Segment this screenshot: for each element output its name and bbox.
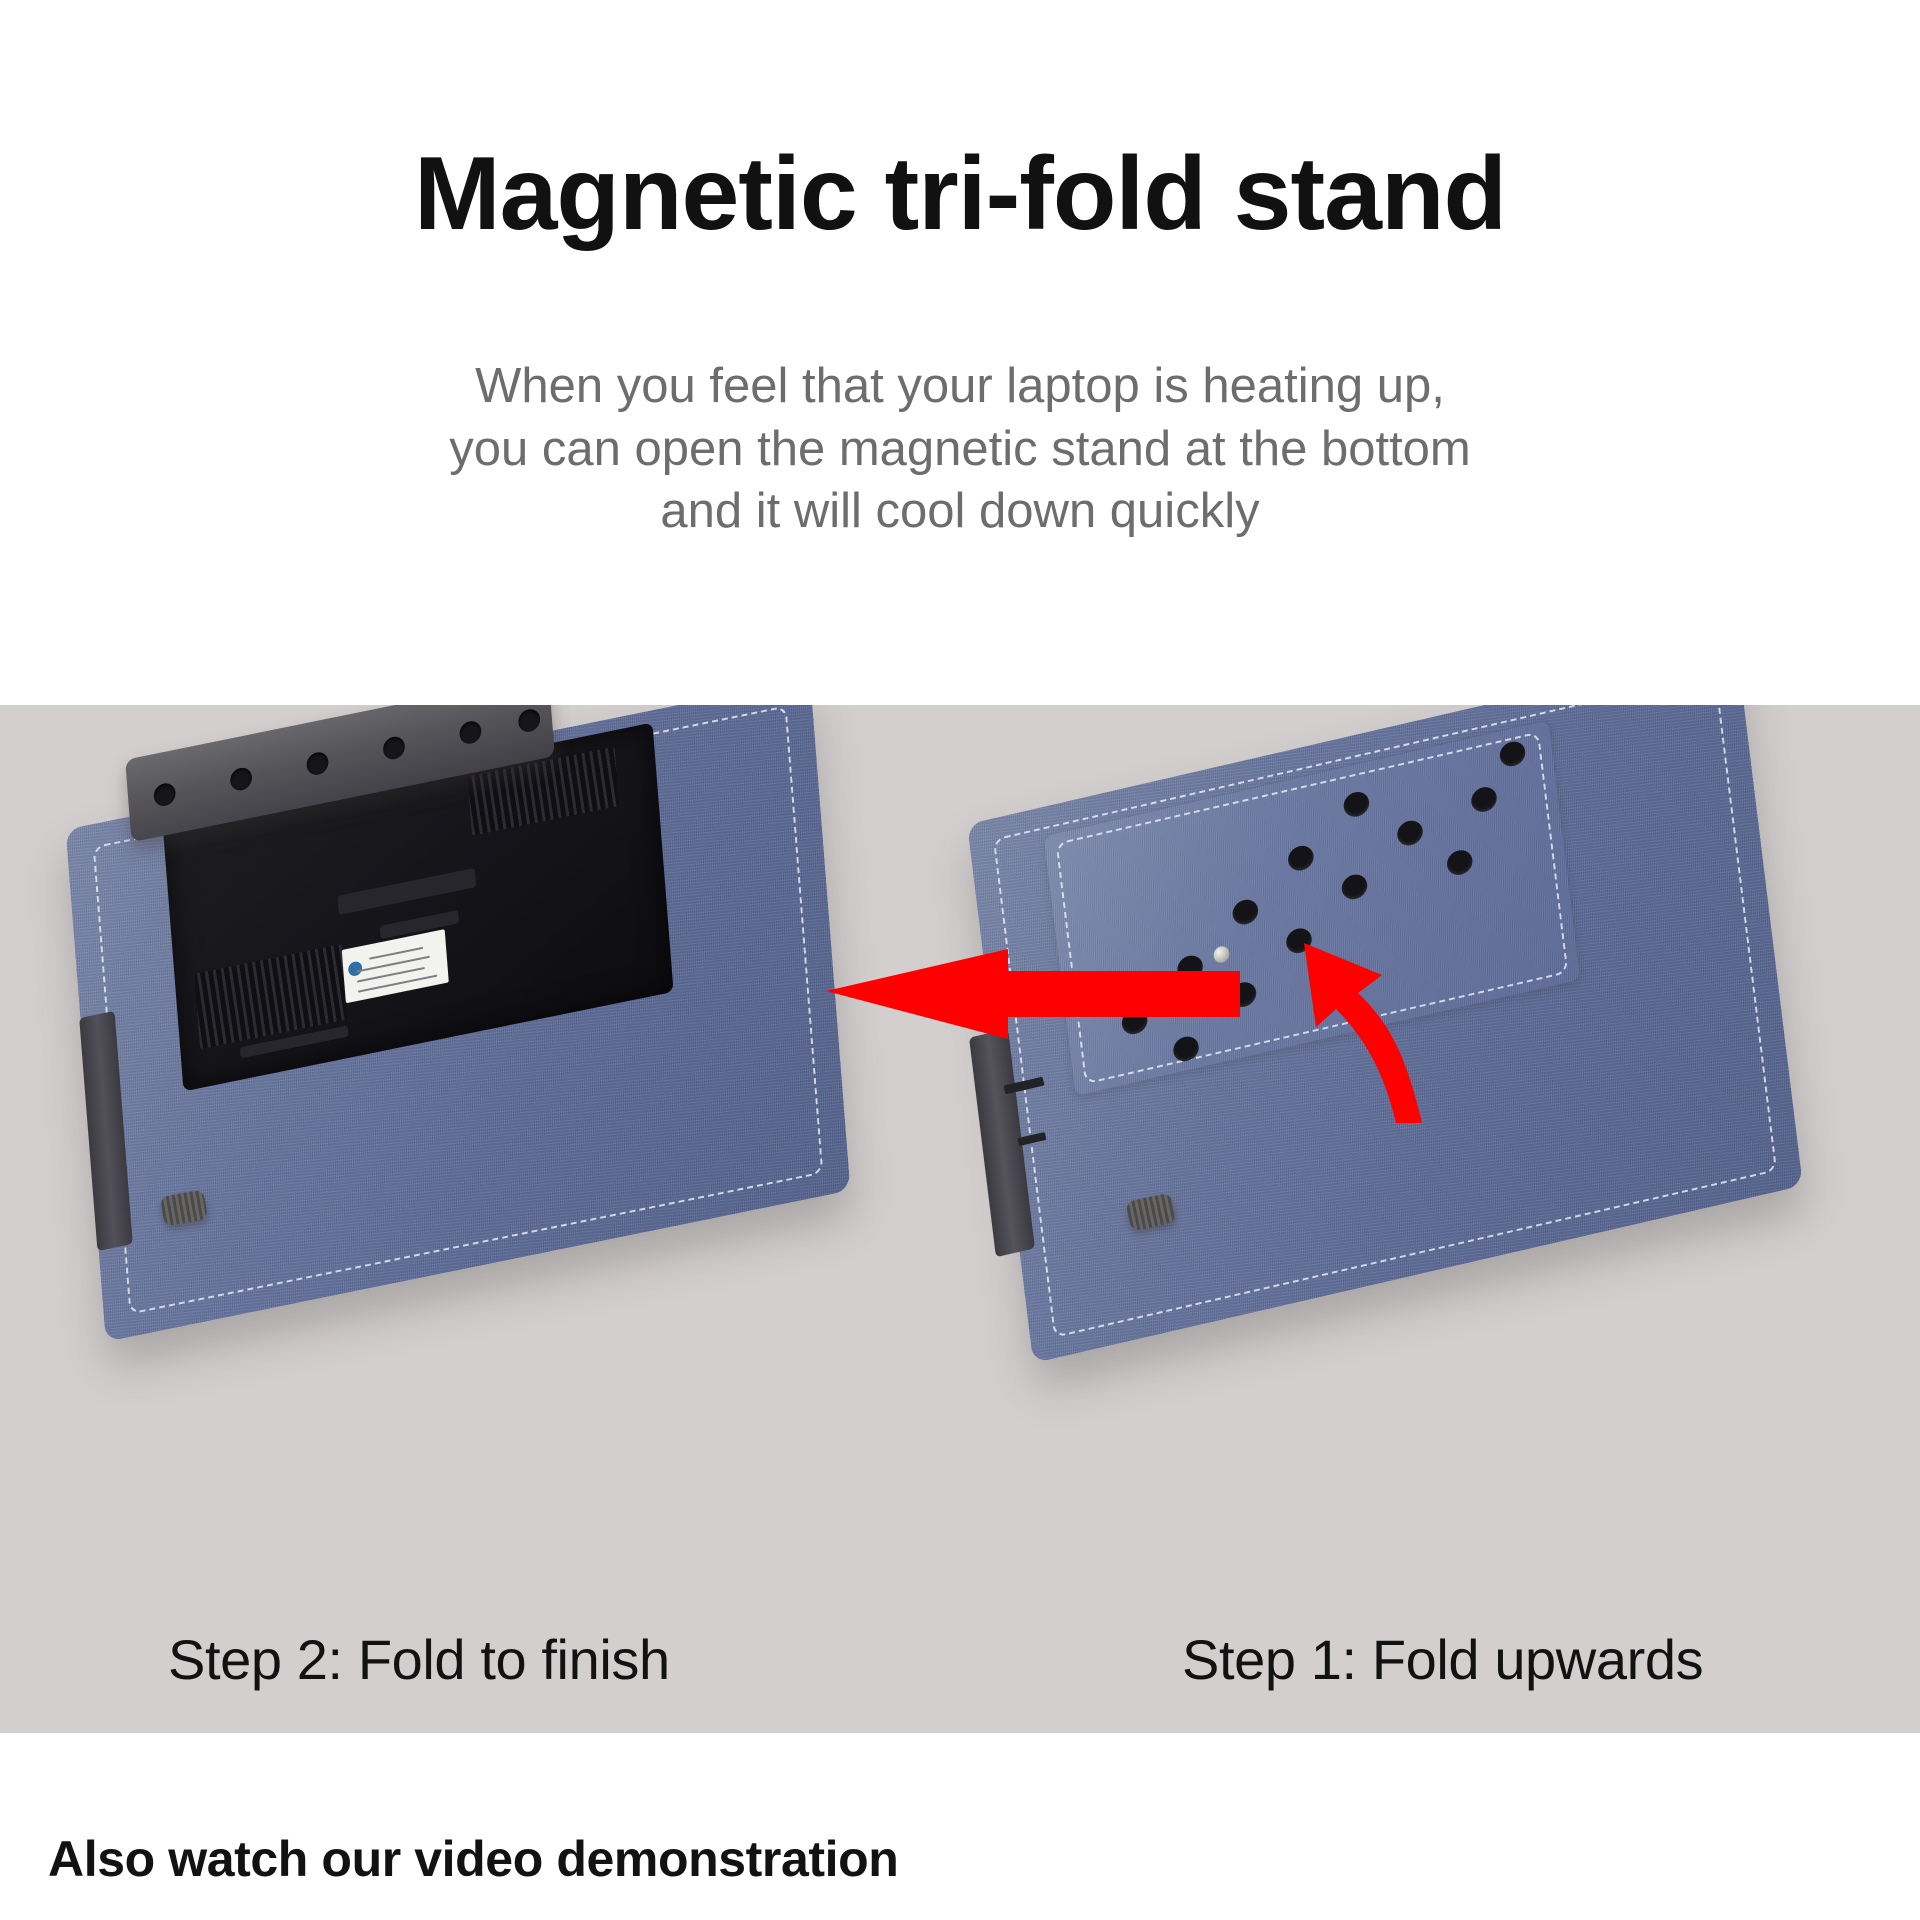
label-logo-icon [348,960,363,977]
stand-bar-hole [306,750,329,776]
stand-bar-hole [153,781,176,807]
product-photo-step-1 [960,715,1860,1355]
subtitle-line-1: When you feel that your laptop is heatin… [0,355,1920,418]
vent-hole [1396,818,1424,848]
product-photo-step-2 [58,715,898,1355]
vent-hole [1446,848,1474,878]
stand-bar-hole [459,719,482,745]
subtitle-line-2: you can open the magnetic stand at the b… [0,418,1920,481]
vent-hole [1287,843,1315,873]
vent-hole [1172,1034,1200,1064]
vent-hole [1470,785,1498,815]
vent-hole [1498,739,1526,769]
laptop-slot-a [337,868,476,915]
vent-hole [1176,953,1204,983]
stand-bar-hole [382,735,405,761]
page-subtitle: When you feel that your laptop is heatin… [0,355,1920,543]
video-demonstration-note: Also watch our video demonstration [48,1830,898,1888]
footer-section: Also watch our video demonstration [0,1733,1920,1920]
vent-hole [1229,980,1257,1010]
step-2-caption: Step 2: Fold to finish [168,1627,670,1692]
vent-hole [1231,897,1259,927]
stand-panel-screw [1213,945,1231,965]
laptop-product-label [342,929,449,1004]
header-section: Magnetic tri-fold stand When you feel th… [0,0,1920,705]
product-photo-band: Step 2: Fold to finish Step 1: Fold upwa… [0,705,1920,1733]
step-1-caption: Step 1: Fold upwards [1182,1627,1703,1692]
subtitle-line-3: and it will cool down quickly [0,480,1920,543]
stand-bar-hole [229,766,252,792]
vent-hole [1342,789,1370,819]
page-title: Magnetic tri-fold stand [0,138,1920,250]
stand-bar-hole [518,707,541,733]
vent-hole [1120,1007,1148,1037]
vent-hole [1285,926,1313,956]
vent-hole [1340,872,1368,902]
